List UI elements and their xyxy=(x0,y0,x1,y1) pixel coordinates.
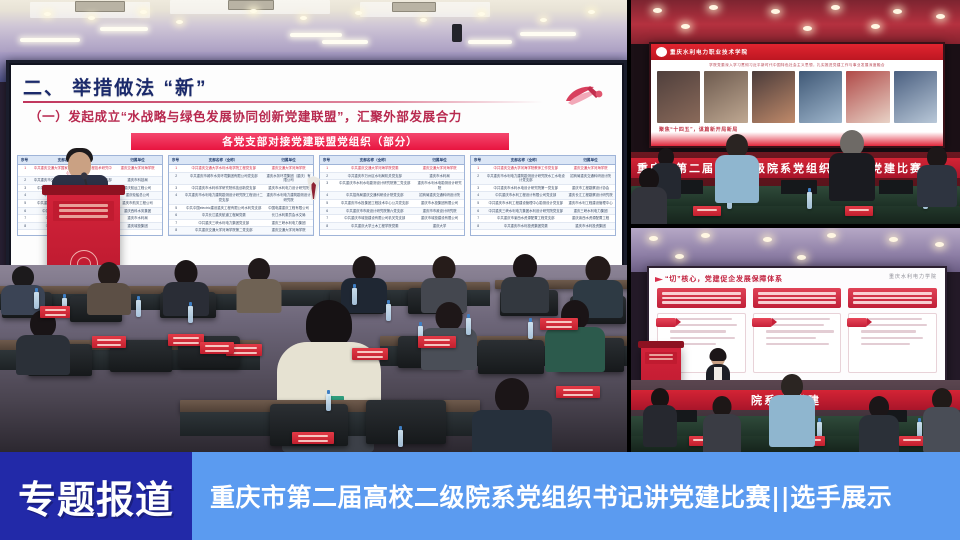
slide-subtitle: （一）发起成立“水战略与绿色发展协同创新党建联盟”，汇聚外部发展合力 xyxy=(29,106,462,125)
photo-thumb xyxy=(657,71,700,123)
slide-red-banner-text: 各党支部对接党建联盟党组织（部分） xyxy=(222,134,418,149)
audience-member xyxy=(500,254,550,310)
slide-table: 序号 支部名称（全称） 归属单位 1 中共重庆交通大学河海学院教师工作党支部 重… xyxy=(470,155,616,236)
slide-title: 二、 举措做法 “新” xyxy=(23,73,208,100)
judge xyxy=(859,396,899,452)
panel-divider-horizontal xyxy=(631,224,960,228)
slide-subtitle: 学院党委深入学习贯彻习近平新时代中国特色社会主义思想，扎实推进党建工作与事业发展… xyxy=(659,63,935,68)
table-row: 2 中共重庆市水利电力建筑勘测设计研究院水工水电设计党支部 招商局重庆交通科研设… xyxy=(471,173,615,185)
column-caption xyxy=(657,288,746,308)
judge xyxy=(829,130,875,196)
photo-thumb xyxy=(799,71,842,123)
judge xyxy=(923,388,960,450)
slide-table: 序号 支部名称（全称） 归属单位 1 中共重庆交通大学河海学院党委 重庆交通大学… xyxy=(319,155,465,236)
table-row: 5 中共重庆市水利工程建设管理中心勘测设计党支部 重庆市水利工程建设管理中心 xyxy=(471,200,615,208)
bottom-right-conference-video[interactable]: “切”核心，党建促企发展保障体系 重庆水利电力学院 xyxy=(631,228,960,452)
table-row: 7 中共重庆三峡水利电力集团党支部 重庆三峡水利电力集团 xyxy=(169,220,313,228)
table-header-row: 序号 支部名称（全称） 归属单位 xyxy=(320,156,464,165)
photo-thumb xyxy=(894,71,937,123)
audience-member xyxy=(0,266,46,312)
slide-table: 序号 支部名称（全称） 归属单位 1 中共重庆交通大学水利水电学院工程党支部 重… xyxy=(168,155,314,236)
table-row: 2 中共重庆市城市水务环境集团有限公司党支部 重庆水务环境集团（重庆）有限公司 xyxy=(169,173,313,185)
name-card xyxy=(292,432,334,444)
table-row: 3 中共重庆市水利水电设计研究院第一党支部 重庆市工程勘察设计协会 xyxy=(471,185,615,193)
table-row: 3 中共重庆市水利科学研究院科技创新党支部 重庆市水利电力设计研究院 xyxy=(169,185,313,193)
table-row: 2 中共重庆市万州区水利局机关党支部 重庆市水利局 xyxy=(320,173,464,181)
slide-red-banner: 各党支部对接党建联盟党组织（部分） xyxy=(131,133,509,150)
judge xyxy=(703,396,741,452)
table-header-row: 序号 支部名称（全称） 归属单位 xyxy=(471,156,615,165)
table-row: 1 中共重庆交通大学河海学院教师工作党支部 重庆交通大学河海学院 xyxy=(471,165,615,173)
column-badge xyxy=(752,318,772,327)
table-header-row: 序号 支部名称（全称） 归属单位 xyxy=(169,156,313,165)
party-emblem-icon xyxy=(560,81,606,113)
column-caption xyxy=(848,288,937,308)
table-row: 3 中共重庆市水利水电勘测设计研究院第二党支部 重庆市水利水电勘测设计研究院 xyxy=(320,180,464,192)
judge xyxy=(643,388,677,444)
banner-badge-label: 专题报道 xyxy=(18,469,174,524)
bullet-arrow-icon xyxy=(655,277,663,282)
slide-column xyxy=(753,288,842,373)
photo-thumb xyxy=(752,71,795,123)
podium-top xyxy=(42,185,125,195)
table-row: 7 中共重庆市城投建设有限公司机关党支部 重庆市城投建设有限公司 xyxy=(320,215,464,223)
slide-column xyxy=(848,288,937,373)
banner-badge: 专题报道 xyxy=(0,452,192,540)
audience-member xyxy=(544,300,606,366)
photo-thumb xyxy=(846,71,889,123)
name-card xyxy=(352,348,388,360)
name-card xyxy=(845,206,873,216)
name-card xyxy=(168,334,204,346)
table-row: 4 中共重庆市水利电力建筑勘测设计研究院工程设计二党支部 重庆市水利电力建筑勘测… xyxy=(169,192,313,204)
audience-member xyxy=(470,378,554,452)
table-row: 8 中共重庆交通大学河海学院第二党支部 重庆交通大学河海学院 xyxy=(169,227,313,235)
column-badge xyxy=(656,318,676,327)
slide-header-bar: 重庆水利电力职业技术学院 xyxy=(651,44,943,60)
judge xyxy=(769,374,815,444)
decorative-wave xyxy=(651,132,943,146)
table-row: 7 中共重庆市渝西水资源配置工程党支部 重庆渝西水资源配置工程 xyxy=(471,215,615,223)
table-row: 5 中共重庆市水投集团工程技术中心公共党支部 重庆市水投集团有限公司 xyxy=(320,200,464,208)
column-caption xyxy=(753,288,842,308)
table-row: 6 中共重庆市市政设计研究院第六党支部 重庆市市政设计研究院 xyxy=(320,208,464,216)
table-row: 8 中共重庆大学土木工程学院党委 重庆大学 xyxy=(320,223,464,231)
table-row: 4 中共招商局重庆交通科研设计院党支部 招商局重庆交通科研设计院 xyxy=(320,192,464,200)
slide-columns xyxy=(657,288,937,373)
audience-member xyxy=(631,168,667,224)
name-card xyxy=(200,342,234,354)
audience-member xyxy=(162,260,210,312)
audience-member xyxy=(14,310,72,370)
name-card xyxy=(899,436,925,446)
photo-grid xyxy=(657,71,937,123)
name-card xyxy=(40,306,70,318)
led-wall-slide: 重庆水利电力职业技术学院 学院党委深入学习贯彻习近平新时代中国特色社会主义思想，… xyxy=(649,42,945,148)
bottom-banner: 专题报道 重庆市第二届高校二级院系党组织书记讲党建比赛||选手展示 xyxy=(0,452,960,540)
name-card xyxy=(418,336,456,348)
name-card xyxy=(92,336,126,348)
col-header-unit: 归属单位 xyxy=(113,156,162,164)
school-logo-text: 重庆水利电力学院 xyxy=(889,273,937,280)
judge xyxy=(917,146,957,202)
led-wall-slide: “切”核心，党建促企发展保障体系 重庆水利电力学院 xyxy=(647,266,947,386)
school-logo-icon xyxy=(656,47,667,57)
top-right-conference-video[interactable]: 重庆水利电力职业技术学院 学院党委深入学习贯彻习近平新时代中国特色社会主义思想，… xyxy=(631,0,960,224)
ceiling xyxy=(631,0,960,44)
table-row: 5 中共中国electric建设重庆工程有限公司水利党支部 中国电建重庆工程有限… xyxy=(169,205,313,213)
photo-thumb xyxy=(704,71,747,123)
main-conference-video[interactable]: 二、 举措做法 “新” （一）发起成立“水战略与绿色发展协同创新党建联盟”，汇聚… xyxy=(0,0,627,452)
audience-member xyxy=(86,262,132,312)
table-row: 1 中共重庆交通大学水利水电学院工程党支部 重庆交通大学河海学院 xyxy=(169,165,313,173)
col-header-index: 序号 xyxy=(18,156,31,164)
name-card xyxy=(540,318,578,330)
screenshot-root: 二、 举措做法 “新” （一）发起成立“水战略与绿色发展协同创新党建联盟”，汇聚… xyxy=(0,0,960,540)
table-row: 6 中共重庆三峡水利电力集团水利设计研究院党支部 重庆三峡水利电力集团 xyxy=(471,208,615,216)
table-row: 8 中共重庆市水利投资集团党委 重庆市水利投资集团 xyxy=(471,223,615,231)
banner-headline: 重庆市第二届高校二级院系党组织书记讲党建比赛||选手展示 xyxy=(192,478,892,514)
video-mosaic: 二、 举措做法 “新” （一）发起成立“水战略与绿色发展协同创新党建联盟”，汇聚… xyxy=(0,0,960,452)
title-divider xyxy=(23,101,543,103)
table-row: 4 中共重庆市水利工程设计有限公司党支部 重庆长江工程勘察设计研究院 xyxy=(471,192,615,200)
judge xyxy=(715,134,759,198)
slide-title: “切”核心，党建促企发展保障体系 xyxy=(665,274,783,284)
name-card xyxy=(693,206,721,216)
table-row: 6 中共长江重庆航道工程局党委 长江水利委员会水文局 xyxy=(169,212,313,220)
table-row: 1 中共重庆交通大学河海学院党委 重庆交通大学河海学院 xyxy=(320,165,464,173)
school-name: 重庆水利电力职业技术学院 xyxy=(670,48,748,56)
column-badge xyxy=(847,318,867,327)
podium-banner xyxy=(53,201,114,221)
name-card xyxy=(556,386,600,398)
